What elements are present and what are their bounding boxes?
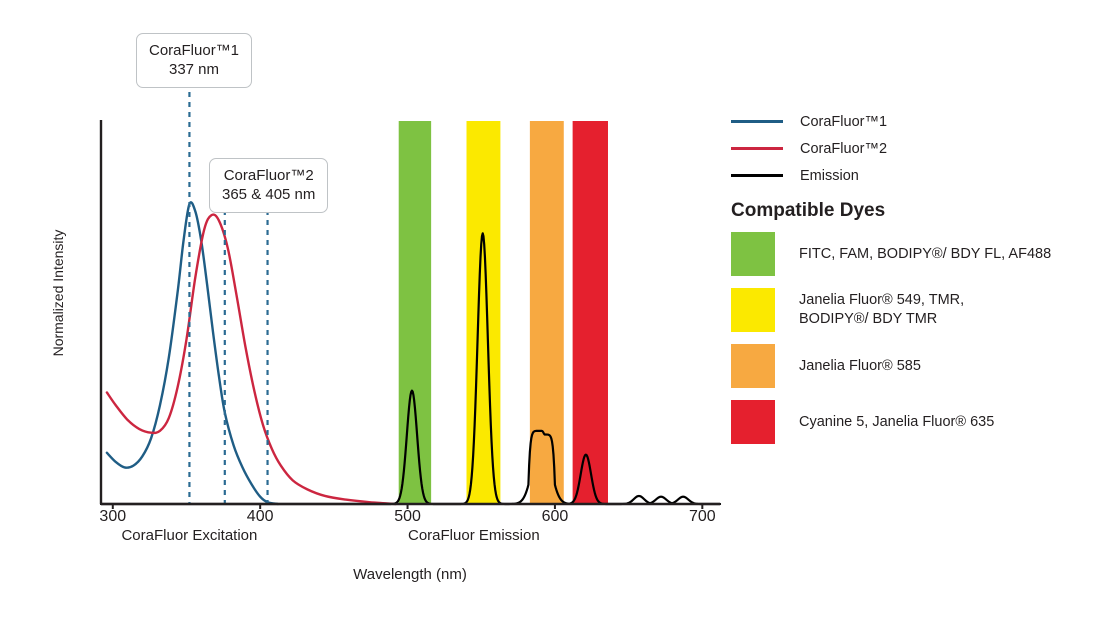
y-axis-title: Normalized Intensity	[50, 213, 66, 373]
callout-2-value: 365 & 405 nm	[222, 185, 315, 204]
dye-label-line1-2: Janelia Fluor® 585	[799, 357, 921, 376]
dye-label-2: Janelia Fluor® 585	[799, 357, 921, 376]
legend-item-1: CoraFluor™2	[731, 135, 1061, 162]
x-tick-label-600: 600	[525, 508, 585, 526]
dye-swatch-2	[731, 344, 775, 388]
dye-item-0: FITC, FAM, BODIPY®/ BDY FL, AF488	[731, 232, 1081, 276]
callout-2-name: CoraFluor™2	[224, 167, 314, 184]
callout-1-name: CoraFluor™1	[149, 42, 239, 59]
dye-label-line2-1: BODIPY®/ BDY TMR	[799, 310, 964, 329]
dye-label-line1-3: Cyanine 5, Janelia Fluor® 635	[799, 413, 994, 432]
emission-band-yellow	[467, 121, 501, 504]
dye-label-line1-1: Janelia Fluor® 549, TMR,	[799, 291, 964, 310]
x-tick-label-700: 700	[672, 508, 732, 526]
dye-label-3: Cyanine 5, Janelia Fluor® 635	[799, 413, 994, 432]
series-line-1	[107, 215, 396, 504]
compatible-dyes-title: Compatible Dyes	[731, 200, 885, 222]
legend-label-2: Emission	[800, 168, 859, 184]
dye-item-2: Janelia Fluor® 585	[731, 344, 1081, 388]
x-section-label-0: CoraFluor Excitation	[89, 527, 289, 544]
x-tick-label-500: 500	[378, 508, 438, 526]
legend-label-0: CoraFluor™1	[800, 114, 887, 130]
x-section-label-1: CoraFluor Emission	[374, 527, 574, 544]
callout-1-value: 337 nm	[149, 60, 239, 79]
x-axis-title: Wavelength (nm)	[290, 566, 530, 583]
legend-label-1: CoraFluor™2	[800, 141, 887, 157]
compatible-dyes-list: FITC, FAM, BODIPY®/ BDY FL, AF488Janelia…	[731, 232, 1081, 456]
legend-swatch-2	[731, 174, 783, 177]
dye-item-3: Cyanine 5, Janelia Fluor® 635	[731, 400, 1081, 444]
emission-band-orange	[530, 121, 564, 504]
dye-swatch-3	[731, 400, 775, 444]
legend-item-0: CoraFluor™1	[731, 108, 1061, 135]
dye-label-line1-0: FITC, FAM, BODIPY®/ BDY FL, AF488	[799, 245, 1051, 264]
x-tick-label-400: 400	[230, 508, 290, 526]
dye-swatch-0	[731, 232, 775, 276]
x-tick-label-300: 300	[83, 508, 143, 526]
legend-item-2: Emission	[731, 162, 1061, 189]
emission-band-green	[399, 121, 431, 504]
series-line-0	[107, 202, 278, 504]
dye-swatch-1	[731, 288, 775, 332]
dye-label-1: Janelia Fluor® 549, TMR,BODIPY®/ BDY TMR	[799, 291, 964, 329]
legend-swatch-0	[731, 120, 783, 123]
legend-swatch-1	[731, 147, 783, 150]
callout-corafluor-2: CoraFluor™2 365 & 405 nm	[209, 158, 328, 213]
dye-label-0: FITC, FAM, BODIPY®/ BDY FL, AF488	[799, 245, 1051, 264]
callout-corafluor-1: CoraFluor™1 337 nm	[136, 33, 252, 88]
series-legend: CoraFluor™1CoraFluor™2Emission	[731, 108, 1061, 189]
dye-item-1: Janelia Fluor® 549, TMR,BODIPY®/ BDY TMR	[731, 288, 1081, 332]
emission-band-red	[573, 121, 608, 504]
